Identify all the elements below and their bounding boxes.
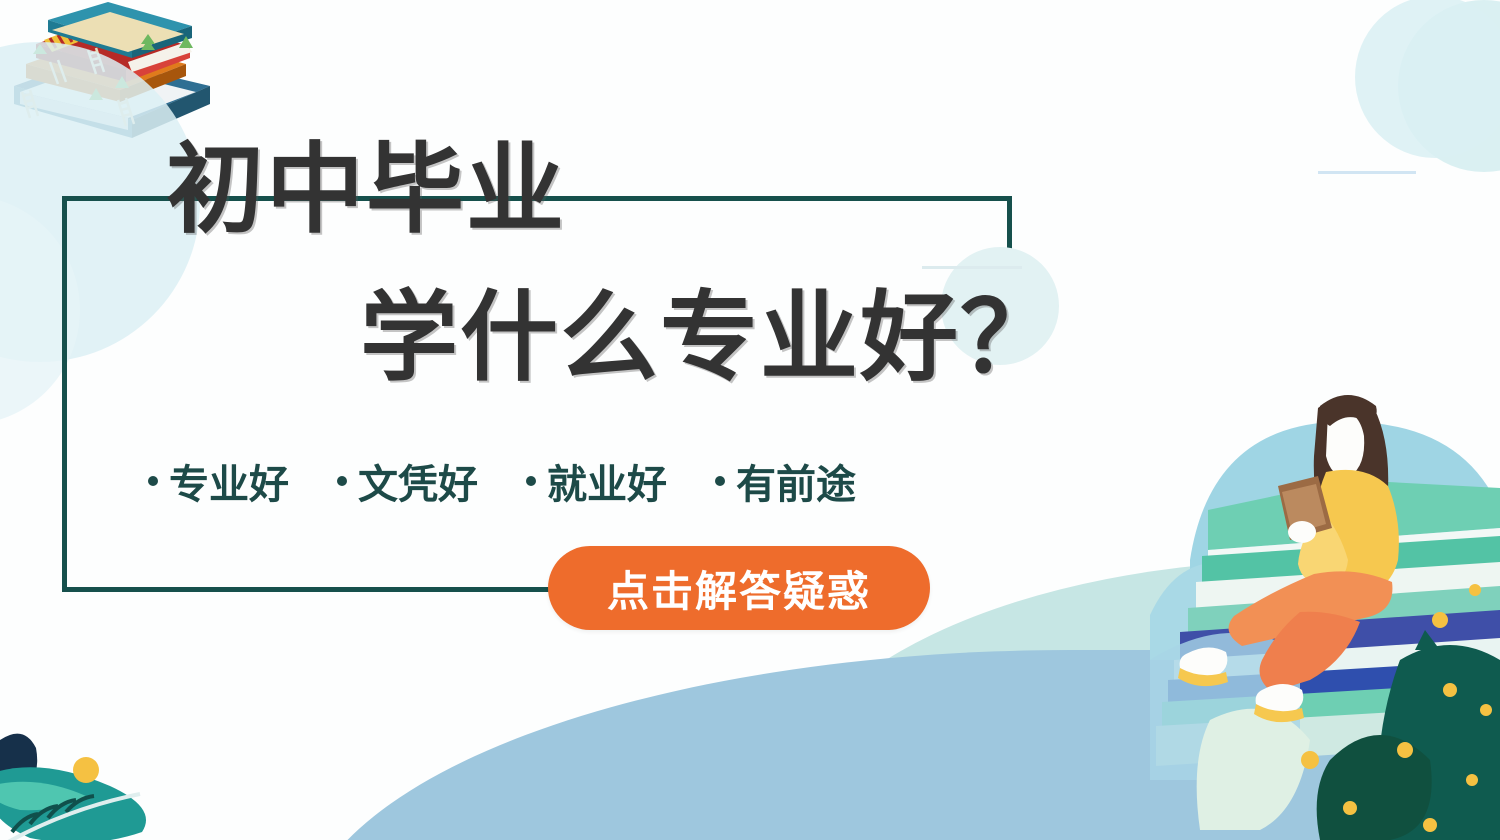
decorative-line-near-question (922, 266, 1022, 269)
bullet-dot-icon (715, 476, 725, 486)
cta-button[interactable]: 点击解答疑惑 (548, 546, 930, 630)
teal-leaves-illustration (0, 700, 210, 840)
decorative-circle-top-right (1398, 0, 1500, 172)
bullet-dot-icon (337, 476, 347, 486)
decorative-wave-blue (300, 650, 1500, 840)
bracket-left-edge (62, 196, 67, 592)
bracket-top-right-stub (1007, 196, 1012, 264)
stacked-books-illustration (0, 0, 222, 148)
decorative-circle-top-right-2 (1355, 0, 1500, 158)
headline-line-2: 学什么专业好？ (360, 288, 1060, 386)
benefit-item-1: 专业好 (148, 452, 289, 510)
bullet-dot-icon (526, 476, 536, 486)
headline-line-1: 初中毕业 (166, 140, 566, 238)
woman-reading-on-books-illustration (1150, 360, 1500, 840)
benefit-item-2: 文凭好 (337, 452, 478, 510)
decorative-wave-blue-deep (1160, 700, 1500, 840)
decorative-circle-top-left-small (0, 195, 80, 425)
decorative-line-top-right (1318, 171, 1416, 174)
bracket-bottom-edge (62, 587, 560, 592)
promo-banner: 初中毕业 学什么专业好？ 专业好 文凭好 就业好 有前途 点击解答疑惑 (0, 0, 1500, 840)
benefit-item-3: 就业好 (526, 452, 667, 510)
benefit-label: 文凭好 (358, 452, 478, 510)
benefit-label: 就业好 (547, 452, 667, 510)
benefit-item-4: 有前途 (715, 452, 856, 510)
benefit-list: 专业好 文凭好 就业好 有前途 (148, 452, 856, 510)
benefit-label: 专业好 (169, 452, 289, 510)
benefit-label: 有前途 (736, 452, 856, 510)
bullet-dot-icon (148, 476, 158, 486)
